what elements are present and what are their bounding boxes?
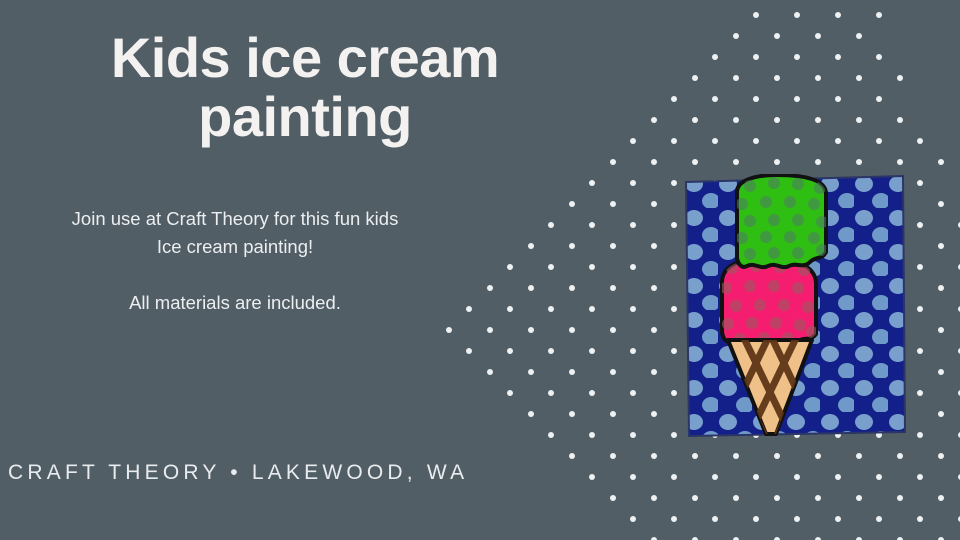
- decorative-dot: [876, 474, 882, 480]
- decorative-dot: [569, 453, 575, 459]
- decorative-dot: [610, 411, 616, 417]
- decorative-dot: [548, 222, 554, 228]
- decorative-dot: [528, 411, 534, 417]
- decorative-dot: [651, 411, 657, 417]
- decorative-dot: [835, 12, 841, 18]
- decorative-dot: [507, 306, 513, 312]
- decorative-dot: [671, 222, 677, 228]
- decorative-dot: [651, 201, 657, 207]
- decorative-dot: [774, 33, 780, 39]
- decorative-dot: [733, 117, 739, 123]
- decorative-dot: [528, 369, 534, 375]
- decorative-dot: [938, 495, 944, 501]
- decorative-dot: [856, 159, 862, 165]
- decorative-dot: [671, 432, 677, 438]
- paragraph-spacer: [0, 261, 470, 289]
- decorative-dot: [897, 75, 903, 81]
- page-title: Kids ice cream painting: [0, 28, 610, 147]
- decorative-dot: [856, 75, 862, 81]
- top-scoop: [736, 175, 828, 267]
- decorative-dot: [794, 96, 800, 102]
- decorative-dot: [794, 474, 800, 480]
- decorative-dot: [651, 453, 657, 459]
- decorative-dot: [856, 33, 862, 39]
- decorative-dot: [876, 12, 882, 18]
- decorative-dot: [876, 138, 882, 144]
- decorative-dot: [610, 201, 616, 207]
- decorative-dot: [610, 327, 616, 333]
- decorative-dot: [630, 264, 636, 270]
- decorative-dot: [692, 75, 698, 81]
- decorative-dot: [630, 180, 636, 186]
- decorative-dot: [548, 348, 554, 354]
- decorative-dot: [610, 159, 616, 165]
- decorative-dot: [712, 138, 718, 144]
- decorative-dot: [589, 264, 595, 270]
- decorative-dot: [487, 369, 493, 375]
- decorative-dot: [753, 12, 759, 18]
- decorative-dot: [507, 390, 513, 396]
- body-line-1: Join use at Craft Theory for this fun ki…: [0, 205, 470, 233]
- decorative-dot: [548, 432, 554, 438]
- decorative-dot: [487, 285, 493, 291]
- decorative-dot: [876, 516, 882, 522]
- decorative-dot: [753, 474, 759, 480]
- decorative-dot: [671, 180, 677, 186]
- decorative-dot: [630, 138, 636, 144]
- decorative-dot: [548, 264, 554, 270]
- decorative-dot: [753, 516, 759, 522]
- decorative-dot: [938, 243, 944, 249]
- ice-cream-painting-svg: [684, 174, 906, 438]
- decorative-dot: [692, 159, 698, 165]
- decorative-dot: [897, 453, 903, 459]
- decorative-dot: [897, 495, 903, 501]
- decorative-dot: [651, 495, 657, 501]
- decorative-dot: [712, 54, 718, 60]
- decorative-dot: [938, 369, 944, 375]
- decorative-dot: [917, 390, 923, 396]
- decorative-dot: [671, 516, 677, 522]
- decorative-dot: [446, 327, 452, 333]
- decorative-dot: [569, 243, 575, 249]
- decorative-dot: [733, 75, 739, 81]
- decorative-dot: [466, 348, 472, 354]
- body-copy: Join use at Craft Theory for this fun ki…: [0, 205, 470, 316]
- decorative-dot: [835, 138, 841, 144]
- decorative-dot: [507, 264, 513, 270]
- decorative-dot: [671, 348, 677, 354]
- decorative-dot: [917, 180, 923, 186]
- decorative-dot: [815, 33, 821, 39]
- decorative-dot: [528, 327, 534, 333]
- decorative-dot: [897, 117, 903, 123]
- decorative-dot: [917, 474, 923, 480]
- decorative-dot: [774, 159, 780, 165]
- decorative-dot: [589, 306, 595, 312]
- decorative-dot: [671, 138, 677, 144]
- decorative-dot: [610, 495, 616, 501]
- decorative-dot: [794, 516, 800, 522]
- decorative-dot: [774, 75, 780, 81]
- decorative-dot: [548, 306, 554, 312]
- decorative-dot: [671, 474, 677, 480]
- decorative-dot: [938, 285, 944, 291]
- decorative-dot: [753, 96, 759, 102]
- decorative-dot: [569, 369, 575, 375]
- decorative-dot: [917, 348, 923, 354]
- decorative-dot: [938, 327, 944, 333]
- decorative-dot: [815, 159, 821, 165]
- decorative-dot: [589, 390, 595, 396]
- ice-cream-painting-image: [684, 174, 906, 438]
- decorative-dot: [897, 159, 903, 165]
- decorative-dot: [774, 117, 780, 123]
- decorative-dot: [712, 516, 718, 522]
- decorative-dot: [610, 285, 616, 291]
- decorative-dot: [589, 222, 595, 228]
- decorative-dot: [610, 453, 616, 459]
- decorative-dot: [794, 12, 800, 18]
- decorative-dot: [917, 138, 923, 144]
- decorative-dot: [733, 159, 739, 165]
- decorative-dot: [589, 348, 595, 354]
- decorative-dot: [610, 369, 616, 375]
- decorative-dot: [630, 390, 636, 396]
- decorative-dot: [589, 474, 595, 480]
- decorative-dot: [569, 201, 575, 207]
- decorative-dot: [651, 243, 657, 249]
- decorative-dot: [774, 495, 780, 501]
- decorative-dot: [671, 96, 677, 102]
- decorative-dot: [528, 243, 534, 249]
- decorative-dot: [671, 306, 677, 312]
- decorative-dot: [835, 516, 841, 522]
- decorative-dot: [753, 54, 759, 60]
- decorative-dot: [917, 306, 923, 312]
- decorative-dot: [917, 264, 923, 270]
- decorative-dot: [917, 222, 923, 228]
- decorative-dot: [487, 327, 493, 333]
- decorative-dot: [589, 180, 595, 186]
- body-line-3: All materials are included.: [0, 289, 470, 317]
- decorative-dot: [938, 159, 944, 165]
- decorative-dot: [569, 285, 575, 291]
- decorative-dot: [569, 411, 575, 417]
- decorative-dot: [630, 474, 636, 480]
- decorative-dot: [815, 453, 821, 459]
- decorative-dot: [651, 327, 657, 333]
- decorative-dot: [835, 474, 841, 480]
- decorative-dot: [630, 222, 636, 228]
- decorative-dot: [815, 75, 821, 81]
- headline-line-2: painting: [198, 85, 412, 148]
- decorative-dot: [733, 33, 739, 39]
- decorative-dot: [610, 243, 616, 249]
- decorative-dot: [692, 117, 698, 123]
- decorative-dot: [569, 327, 575, 333]
- decorative-dot: [712, 96, 718, 102]
- decorative-dot: [630, 516, 636, 522]
- decorative-dot: [876, 96, 882, 102]
- decorative-dot: [815, 495, 821, 501]
- decorative-dot: [507, 348, 513, 354]
- decorative-dot: [856, 495, 862, 501]
- decorative-dot: [733, 495, 739, 501]
- decorative-dot: [692, 495, 698, 501]
- decorative-dot: [528, 285, 534, 291]
- bottom-scoop: [720, 258, 818, 345]
- decorative-dot: [917, 516, 923, 522]
- decorative-dot: [938, 411, 944, 417]
- decorative-dot: [794, 54, 800, 60]
- decorative-dot: [794, 138, 800, 144]
- decorative-dot: [733, 453, 739, 459]
- decorative-dot: [815, 117, 821, 123]
- decorative-dot: [651, 117, 657, 123]
- headline-line-1: Kids ice cream: [111, 26, 499, 89]
- decorative-dot: [856, 117, 862, 123]
- decorative-dot: [712, 474, 718, 480]
- decorative-dot: [835, 54, 841, 60]
- decorative-dot: [589, 432, 595, 438]
- decorative-dot: [651, 285, 657, 291]
- decorative-dot: [671, 390, 677, 396]
- decorative-dot: [651, 369, 657, 375]
- footer-business-location: CRAFT THEORY • LAKEWOOD, WA: [8, 461, 468, 485]
- decorative-dot: [630, 348, 636, 354]
- decorative-dot: [692, 453, 698, 459]
- decorative-dot: [938, 453, 944, 459]
- decorative-dot: [671, 264, 677, 270]
- poster-canvas: Kids ice cream painting Join use at Craf…: [0, 0, 960, 540]
- decorative-dot: [548, 390, 554, 396]
- decorative-dot: [856, 453, 862, 459]
- decorative-dot: [774, 453, 780, 459]
- decorative-dot: [876, 54, 882, 60]
- decorative-dot: [753, 138, 759, 144]
- decorative-dot: [651, 159, 657, 165]
- decorative-dot: [938, 201, 944, 207]
- decorative-dot: [917, 432, 923, 438]
- decorative-dot: [630, 432, 636, 438]
- decorative-dot: [630, 306, 636, 312]
- body-line-2: Ice cream painting!: [0, 233, 470, 261]
- decorative-dot: [835, 96, 841, 102]
